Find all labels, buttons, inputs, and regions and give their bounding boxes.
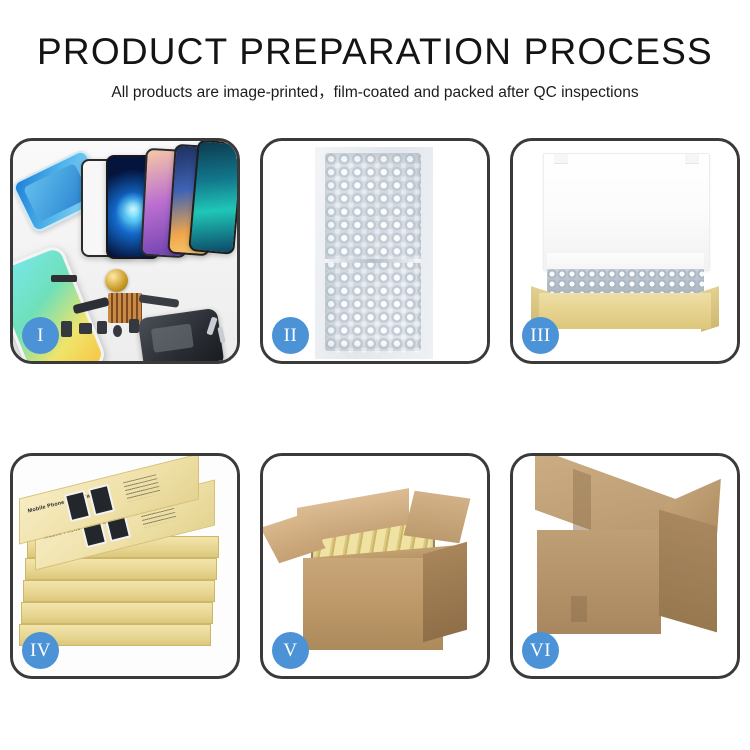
step-panel-1: I <box>10 138 240 364</box>
step-badge-4: IV <box>22 632 59 669</box>
step-badge-1: I <box>22 317 59 354</box>
page-subtitle: All products are image-printed，film-coat… <box>0 83 750 103</box>
step-badge-5: V <box>272 632 309 669</box>
retail-box-icon <box>23 580 215 602</box>
small-part-icon <box>129 319 139 333</box>
product-preparation-infographic: PRODUCT PREPARATION PROCESS All products… <box>0 0 750 750</box>
small-part-icon <box>97 321 107 334</box>
pouch-seam-icon <box>325 259 421 263</box>
gold-coil-icon <box>105 269 128 292</box>
step-image-phone-parts: I <box>13 141 237 361</box>
chip-part-icon <box>51 275 77 282</box>
header: PRODUCT PREPARATION PROCESS All products… <box>0 0 750 103</box>
step-badge-3: III <box>522 317 559 354</box>
step-image-open-carton: V <box>263 456 487 676</box>
carton-side-panel-icon <box>423 542 467 643</box>
step-image-open-kraft-box: III <box>513 141 737 361</box>
steps-grid: I II III <box>10 138 740 683</box>
step-panel-6: VI <box>510 453 740 679</box>
small-part-icon <box>61 321 72 337</box>
carton-right-flap-icon <box>404 491 471 543</box>
small-part-icon <box>79 323 92 334</box>
small-part-icon <box>113 325 122 337</box>
retail-box-icon <box>21 602 213 624</box>
box-front-panel-icon <box>539 293 711 329</box>
carton-front-panel-icon <box>537 530 661 634</box>
step-badge-6: VI <box>522 632 559 669</box>
step-panel-2: II <box>260 138 490 364</box>
step-panel-4: Mobile Phone Spare Parts Mobile Phone Sp… <box>10 453 240 679</box>
carton-tape-icon <box>571 596 587 622</box>
step-image-box-stack: Mobile Phone Spare Parts Mobile Phone Sp… <box>13 456 237 676</box>
carton-front-panel-icon <box>303 558 443 650</box>
flex-cable-icon <box>139 294 180 307</box>
phone-teal-icon <box>188 141 237 255</box>
bubble-highlight-icon <box>331 159 427 357</box>
bubble-fill-icon <box>547 269 704 295</box>
carton-side-panel-icon <box>659 510 717 633</box>
step-panel-3: III <box>510 138 740 364</box>
step-image-bubble-wrap: II <box>263 141 487 361</box>
step-badge-2: II <box>272 317 309 354</box>
page-title: PRODUCT PREPARATION PROCESS <box>0 30 750 74</box>
step-image-sealed-carton: VI <box>513 456 737 676</box>
step-panel-5: V <box>260 453 490 679</box>
